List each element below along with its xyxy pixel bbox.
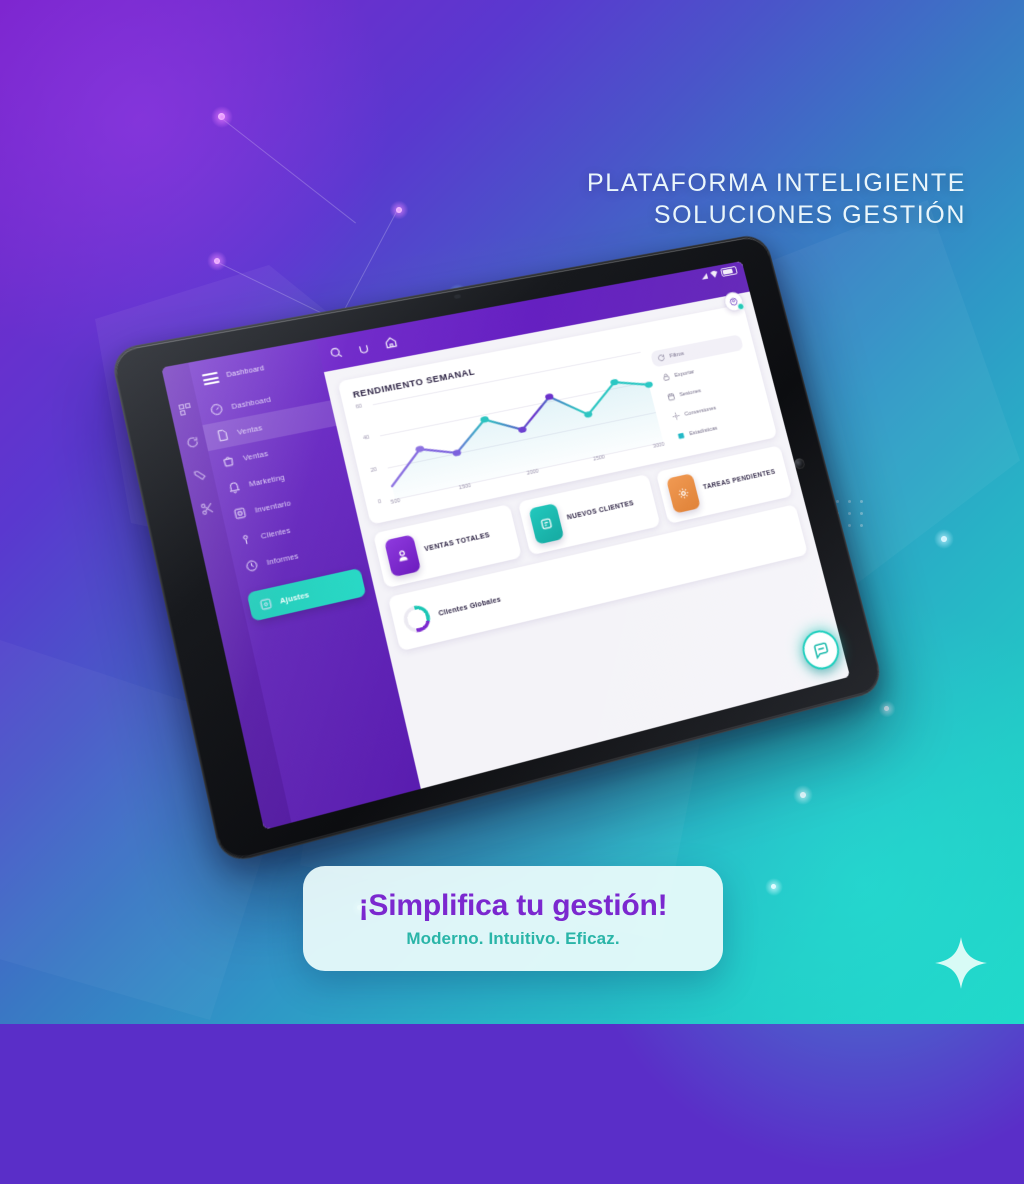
sidebar-item-informes[interactable]: Informes (232, 528, 367, 582)
hamburger-icon[interactable] (202, 372, 220, 386)
banner-heading: ¡Simplifica tu gestión! (359, 889, 668, 923)
sparkle-icon (934, 936, 988, 990)
sidebar-item-label: Marketing (248, 472, 286, 488)
sidebar-item-ventas[interactable]: Ventas (208, 426, 342, 477)
home-icon[interactable] (382, 334, 399, 350)
x-tick-label: 2000 (526, 469, 539, 477)
signal-icon (700, 273, 708, 280)
tag-icon[interactable] (191, 468, 207, 484)
donut-chart-icon (401, 603, 433, 635)
particle-dot (941, 536, 947, 542)
banner-subheading: Moderno. Intuitivo. Eficaz. (406, 929, 619, 949)
legend-label: Estadísticas (689, 425, 718, 436)
sidebar-item-label: Ventas (242, 448, 269, 462)
refresh-icon (656, 353, 666, 363)
sidebar-item-label: Informes (266, 551, 300, 567)
particle-dot (218, 113, 225, 120)
search-icon[interactable] (327, 345, 344, 361)
bell-icon[interactable] (355, 340, 372, 356)
sidebar-item-label: Ventas (236, 423, 263, 437)
gauge-icon (207, 401, 225, 418)
particle-dot (771, 884, 776, 889)
tablet-screen: Dashboard Dashboard Ventas Ventas Market… (161, 261, 850, 830)
calendar-icon (666, 392, 676, 402)
battery-icon (720, 266, 738, 277)
x-tick-label: 1500 (458, 483, 471, 491)
wifi-icon (710, 270, 719, 278)
sidebar-item-label: Inventario (254, 498, 292, 514)
icon-rail (161, 363, 291, 830)
sidebar-item-label: Dashboard (230, 394, 271, 410)
particle-dot (396, 207, 402, 213)
legend-label: Sesiones (679, 388, 702, 398)
stats-icon (676, 431, 686, 441)
sidebar-cta-button[interactable]: Ajustes (247, 568, 367, 622)
lock-icon (661, 372, 671, 382)
legend-label: Exportar (674, 369, 695, 378)
user-icon (236, 531, 254, 548)
sidebar-item-label: Clientes (260, 525, 291, 540)
box-icon (231, 504, 249, 521)
refresh-icon[interactable] (184, 435, 200, 451)
sidebar-item-inventario[interactable]: Inventario (220, 477, 354, 530)
x-tick-label: 2500 (593, 454, 606, 462)
sidebar-item-clientes[interactable]: Clientes (226, 502, 360, 555)
kpi-label: NUEVOS CLIENTES (566, 499, 635, 523)
sidebar-item-dashboard[interactable]: Dashboard (197, 375, 331, 425)
sidebar-brand[interactable]: Dashboard (191, 349, 325, 399)
y-tick-label: 20 (370, 466, 378, 473)
tablet-mockup: Dashboard Dashboard Ventas Ventas Market… (146, 258, 886, 798)
bag-icon (219, 452, 237, 469)
kpi-label: TAREAS PENDIENTES (702, 468, 776, 493)
gear-icon (666, 473, 701, 514)
share-icon (671, 411, 681, 421)
legend-label: Conversiones (684, 405, 717, 417)
settings-icon (256, 595, 274, 612)
tablet-body: Dashboard Dashboard Ventas Ventas Market… (109, 233, 885, 866)
bottom-card-label: Clientes Globales (438, 596, 502, 617)
document-icon (213, 427, 231, 444)
x-tick-label: 500 (390, 498, 401, 506)
kpi-label: VENTAS TOTALES (424, 531, 492, 555)
x-tick-label: 3000 (653, 442, 666, 450)
headline-line-1: PLATAFORMA INTELIGIENTE (587, 168, 966, 200)
cta-banner: ¡Simplifica tu gestión! Moderno. Intuiti… (303, 866, 723, 971)
y-tick-label: 40 (363, 435, 371, 442)
y-tick-label: 60 (355, 403, 363, 410)
sidebar: Dashboard Dashboard Ventas Ventas Market… (188, 339, 420, 822)
brand-label: Dashboard (226, 365, 265, 379)
chat-icon (810, 639, 831, 661)
legend-label: Filtros (669, 351, 684, 359)
chart-legend: Filtros Exportar Sesiones (645, 316, 765, 450)
bell-icon (225, 478, 243, 495)
y-tick-label: 0 (378, 499, 382, 506)
status-bar (700, 266, 738, 281)
kpi-card-ventas-totales[interactable]: VENTAS TOTALES (373, 504, 522, 588)
chart-icon (242, 557, 260, 574)
chat-box-icon (528, 503, 564, 545)
sidebar-item-ventas-active[interactable]: Ventas (202, 400, 336, 451)
scissors-icon[interactable] (199, 501, 216, 517)
sidebar-item-marketing[interactable]: Marketing (214, 451, 348, 503)
grid-icon[interactable] (177, 402, 193, 418)
sidebar-cta-label: Ajustes (279, 589, 310, 605)
person-icon (384, 534, 421, 577)
